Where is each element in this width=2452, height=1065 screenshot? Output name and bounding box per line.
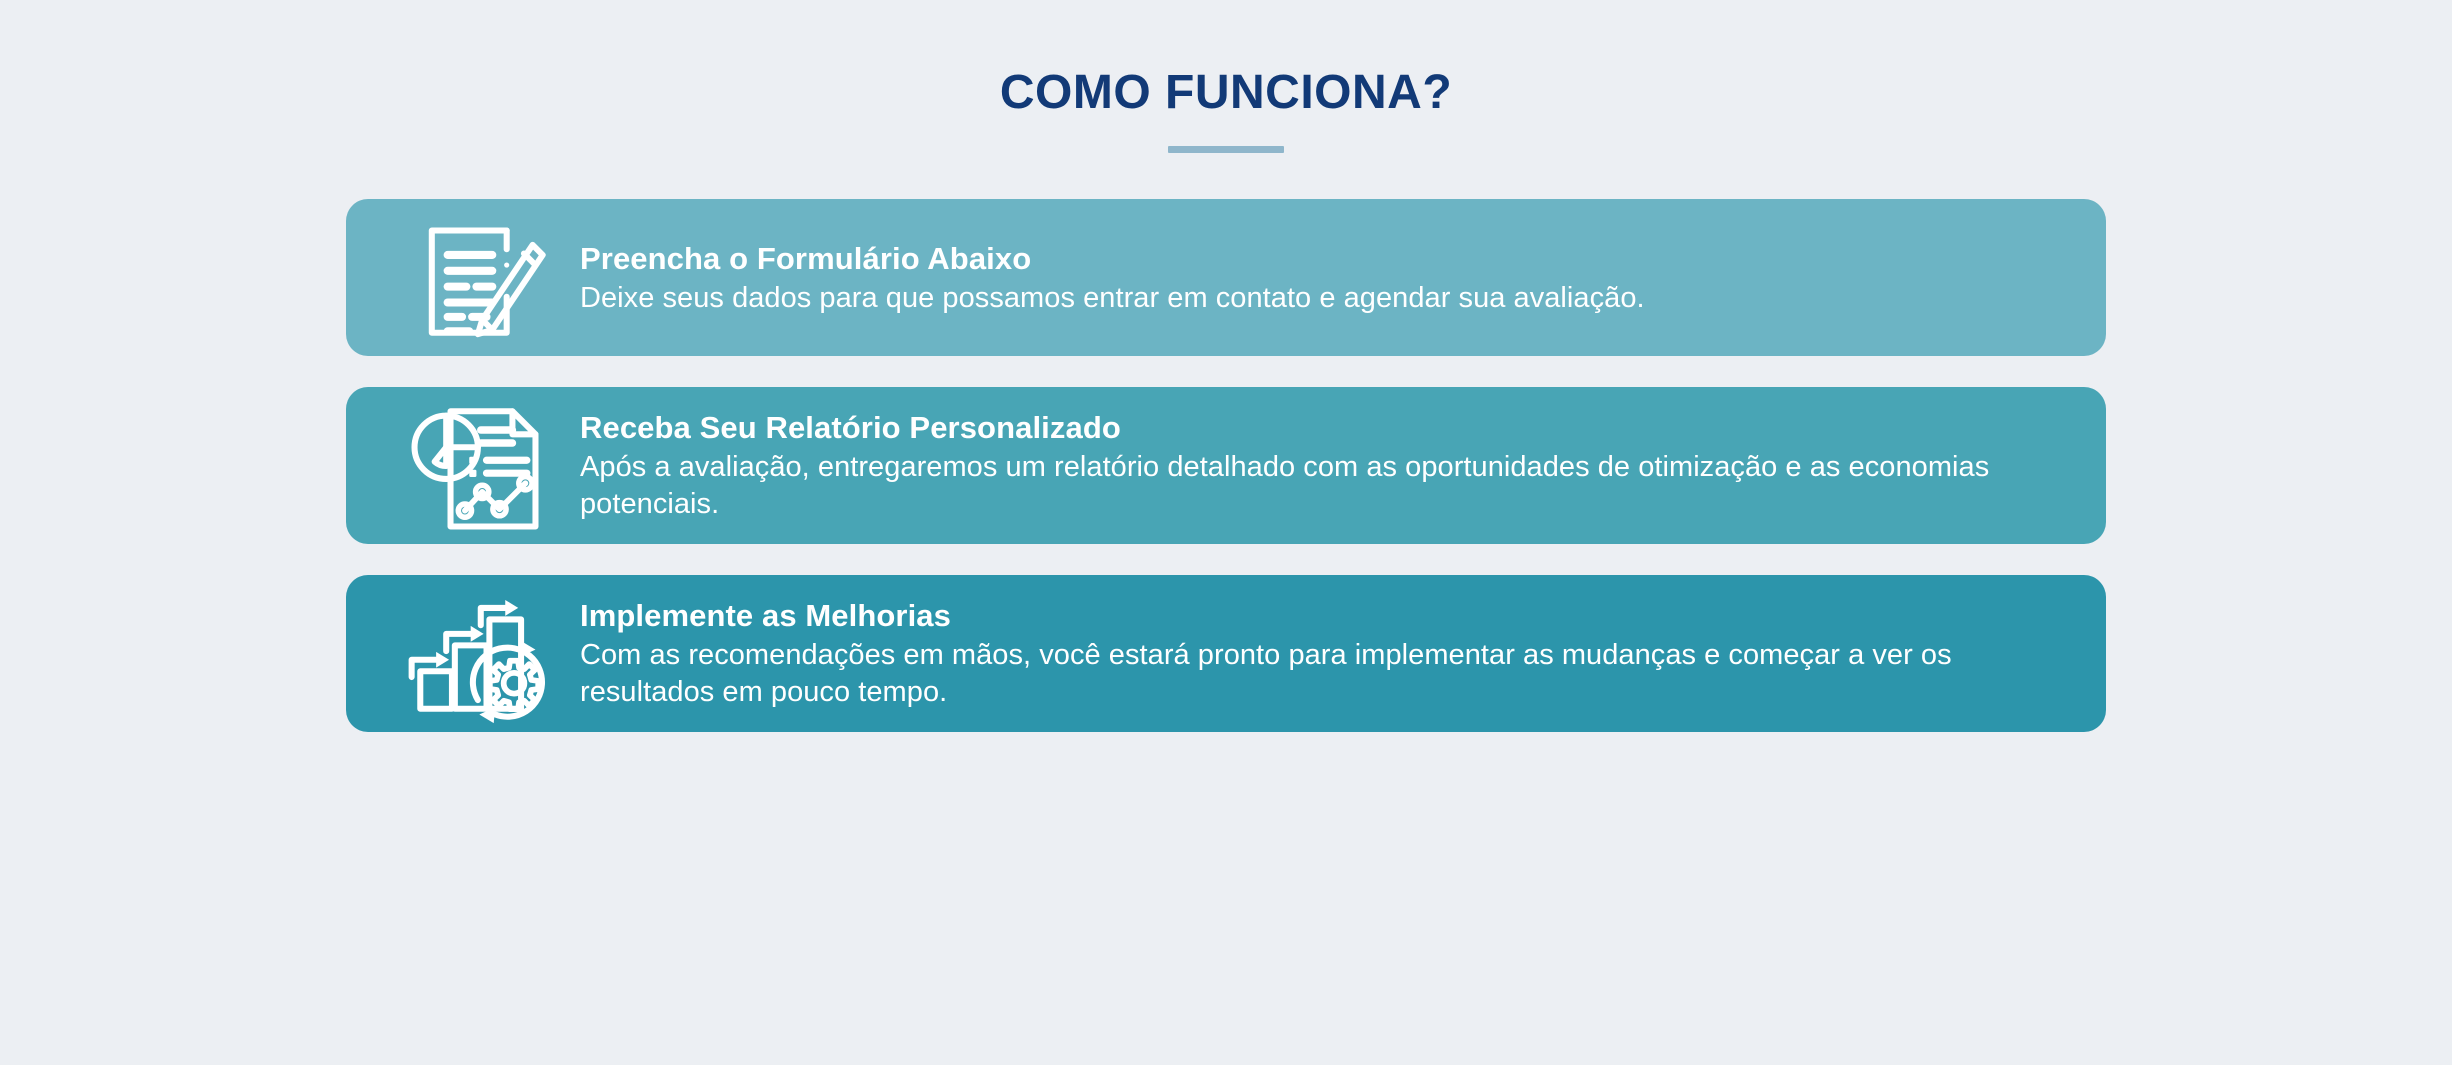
step-content: Receba Seu Relatório Personalizado Após … [560, 409, 2062, 522]
page-title: COMO FUNCIONA? [0, 68, 2452, 118]
step-card-fill-form[interactable]: Preencha o Formulário Abaixo Deixe seus … [346, 199, 2106, 356]
report-chart-document-icon [390, 394, 560, 538]
form-document-pencil-icon [390, 206, 560, 350]
section-header: COMO FUNCIONA? [0, 0, 2452, 153]
title-accent-rule [1168, 146, 1284, 153]
how-it-works-section: COMO FUNCIONA? [0, 0, 2452, 1065]
step-card-receive-report[interactable]: Receba Seu Relatório Personalizado Após … [346, 387, 2106, 544]
steps-list: Preencha o Formulário Abaixo Deixe seus … [346, 153, 2106, 732]
step-description: Deixe seus dados para que possamos entra… [580, 280, 2062, 317]
step-description: Com as recomendações em mãos, você estar… [580, 637, 2062, 710]
step-heading: Preencha o Formulário Abaixo [580, 240, 2062, 278]
step-heading: Receba Seu Relatório Personalizado [580, 409, 2062, 447]
step-description: Após a avaliação, entregaremos um relató… [580, 449, 2062, 522]
step-content: Implemente as Melhorias Com as recomenda… [560, 597, 2062, 710]
step-heading: Implemente as Melhorias [580, 597, 2062, 635]
step-card-implement-improvements[interactable]: Implemente as Melhorias Com as recomenda… [346, 575, 2106, 732]
step-content: Preencha o Formulário Abaixo Deixe seus … [560, 240, 2062, 316]
growth-bars-gear-icon [390, 582, 560, 726]
